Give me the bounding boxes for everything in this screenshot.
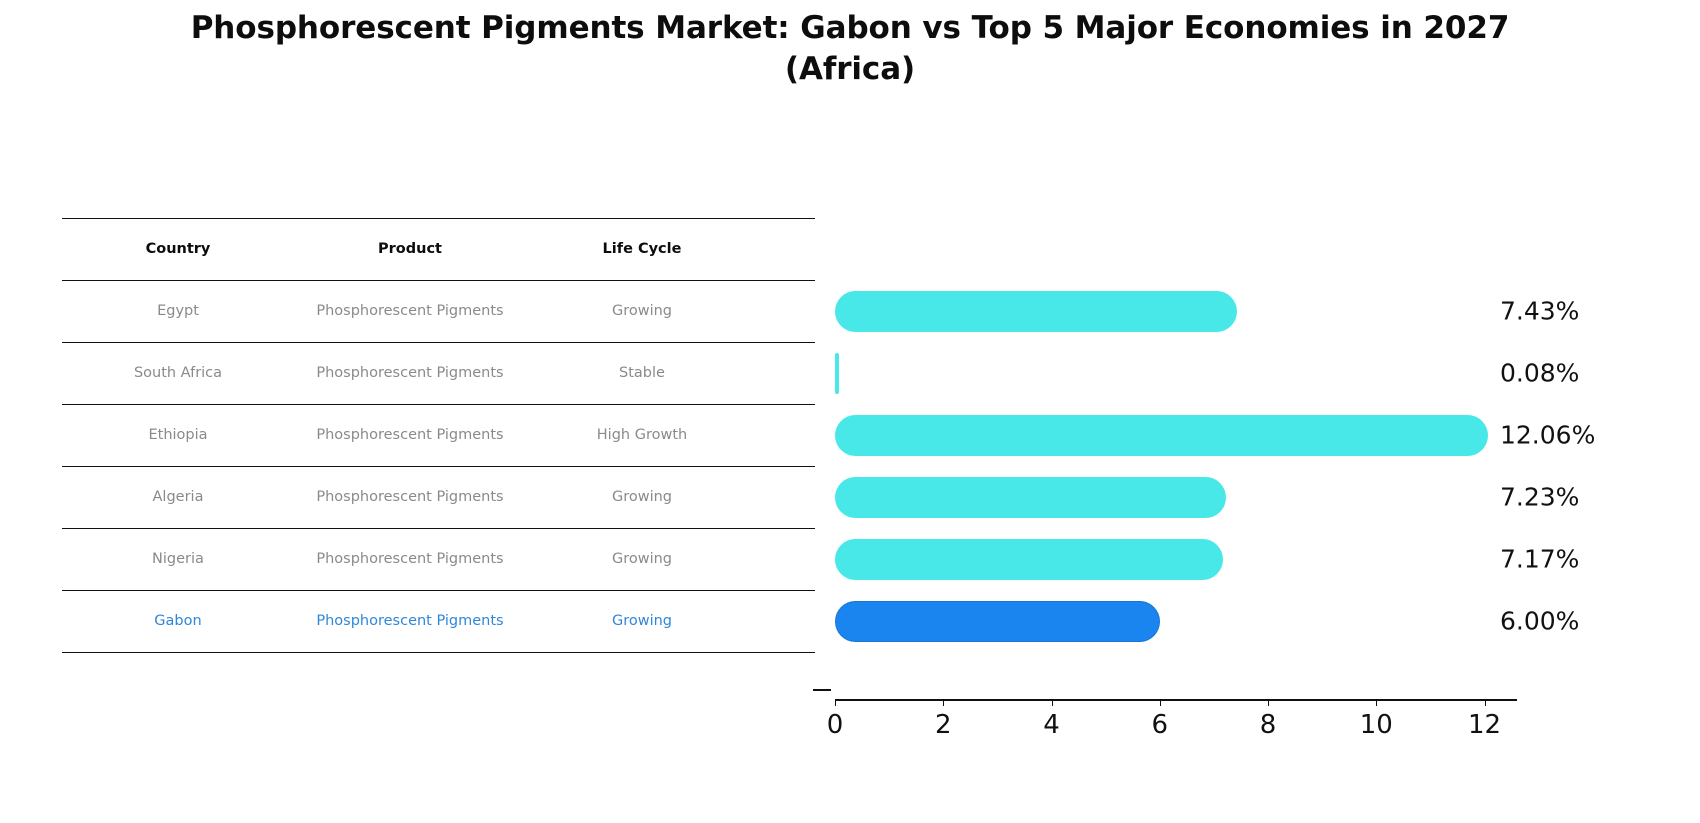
bar-value-label: 0.08% xyxy=(1500,359,1579,388)
x-axis: 024681012 xyxy=(835,699,1517,759)
table-row[interactable]: NigeriaPhosphorescent PigmentsGrowing xyxy=(62,528,815,590)
bar[interactable] xyxy=(835,415,1488,456)
cell-product: Phosphorescent Pigments xyxy=(294,303,526,319)
bar-row: 7.23% xyxy=(835,466,1535,528)
cell-country: Egypt xyxy=(62,303,294,319)
x-tick-mark xyxy=(1052,699,1053,706)
cell-life-cycle: Growing xyxy=(526,489,758,505)
bar-chart-plot-area: 7.43%0.08%12.06%7.23%7.17%6.00% xyxy=(835,218,1535,698)
cell-country: Nigeria xyxy=(62,551,294,567)
x-tick-mark xyxy=(1376,699,1377,706)
bar-value-label: 12.06% xyxy=(1500,421,1595,450)
cell-country: Algeria xyxy=(62,489,294,505)
x-tick-label: 8 xyxy=(1260,710,1277,740)
column-header-country: Country xyxy=(62,241,294,257)
bar-value-label: 7.23% xyxy=(1500,483,1579,512)
x-tick-label: 4 xyxy=(1043,710,1060,740)
x-tick-label: 12 xyxy=(1468,710,1501,740)
bar[interactable] xyxy=(835,477,1226,518)
cell-life-cycle: High Growth xyxy=(526,427,758,443)
bar-row: 12.06% xyxy=(835,404,1535,466)
bar-value-label: 7.17% xyxy=(1500,545,1579,574)
bar-row: 0.08% xyxy=(835,342,1535,404)
cell-product: Phosphorescent Pigments xyxy=(294,551,526,567)
x-tick-mark xyxy=(1268,699,1269,706)
x-axis-line xyxy=(835,699,1517,701)
x-tick-mark xyxy=(835,699,836,706)
cell-life-cycle: Growing xyxy=(526,551,758,567)
cell-life-cycle: Growing xyxy=(526,303,758,319)
bar-row: 6.00% xyxy=(835,590,1535,652)
chart-title: Phosphorescent Pigments Market: Gabon vs… xyxy=(0,8,1700,90)
cell-life-cycle: Stable xyxy=(526,365,758,381)
bar-value-label: 6.00% xyxy=(1500,607,1579,636)
cell-product: Phosphorescent Pigments xyxy=(294,365,526,381)
bar-row: 7.43% xyxy=(835,280,1535,342)
bar[interactable] xyxy=(835,353,839,394)
table-row[interactable]: GabonPhosphorescent PigmentsGrowing xyxy=(62,590,815,652)
x-tick-label: 6 xyxy=(1151,710,1168,740)
bar-highlight[interactable] xyxy=(835,601,1160,642)
chart-title-line-1: Phosphorescent Pigments Market: Gabon vs… xyxy=(0,8,1700,49)
cell-country: Ethiopia xyxy=(62,427,294,443)
x-tick-label: 10 xyxy=(1360,710,1393,740)
bar[interactable] xyxy=(835,539,1223,580)
axis-left-stub xyxy=(813,689,831,691)
cell-product: Phosphorescent Pigments xyxy=(294,613,526,629)
table-row[interactable]: EgyptPhosphorescent PigmentsGrowing xyxy=(62,280,815,342)
x-tick-mark xyxy=(943,699,944,706)
x-tick-label: 2 xyxy=(935,710,952,740)
column-header-product: Product xyxy=(294,241,526,257)
cell-country: South Africa xyxy=(62,365,294,381)
column-header-life-cycle: Life Cycle xyxy=(526,241,758,257)
x-tick-label: 0 xyxy=(827,710,844,740)
x-tick-mark xyxy=(1485,699,1486,706)
table-header-row: CountryProductLife Cycle xyxy=(62,218,815,280)
table-row[interactable]: South AfricaPhosphorescent PigmentsStabl… xyxy=(62,342,815,404)
cell-country: Gabon xyxy=(62,613,294,629)
table-rule xyxy=(62,652,815,653)
x-tick-mark xyxy=(1160,699,1161,706)
cell-life-cycle: Growing xyxy=(526,613,758,629)
table-row[interactable]: EthiopiaPhosphorescent PigmentsHigh Grow… xyxy=(62,404,815,466)
cell-product: Phosphorescent Pigments xyxy=(294,489,526,505)
bar[interactable] xyxy=(835,291,1237,332)
bar-row: 7.17% xyxy=(835,528,1535,590)
chart-title-line-2: (Africa) xyxy=(0,49,1700,90)
table-row[interactable]: AlgeriaPhosphorescent PigmentsGrowing xyxy=(62,466,815,528)
cell-product: Phosphorescent Pigments xyxy=(294,427,526,443)
bar-value-label: 7.43% xyxy=(1500,297,1579,326)
